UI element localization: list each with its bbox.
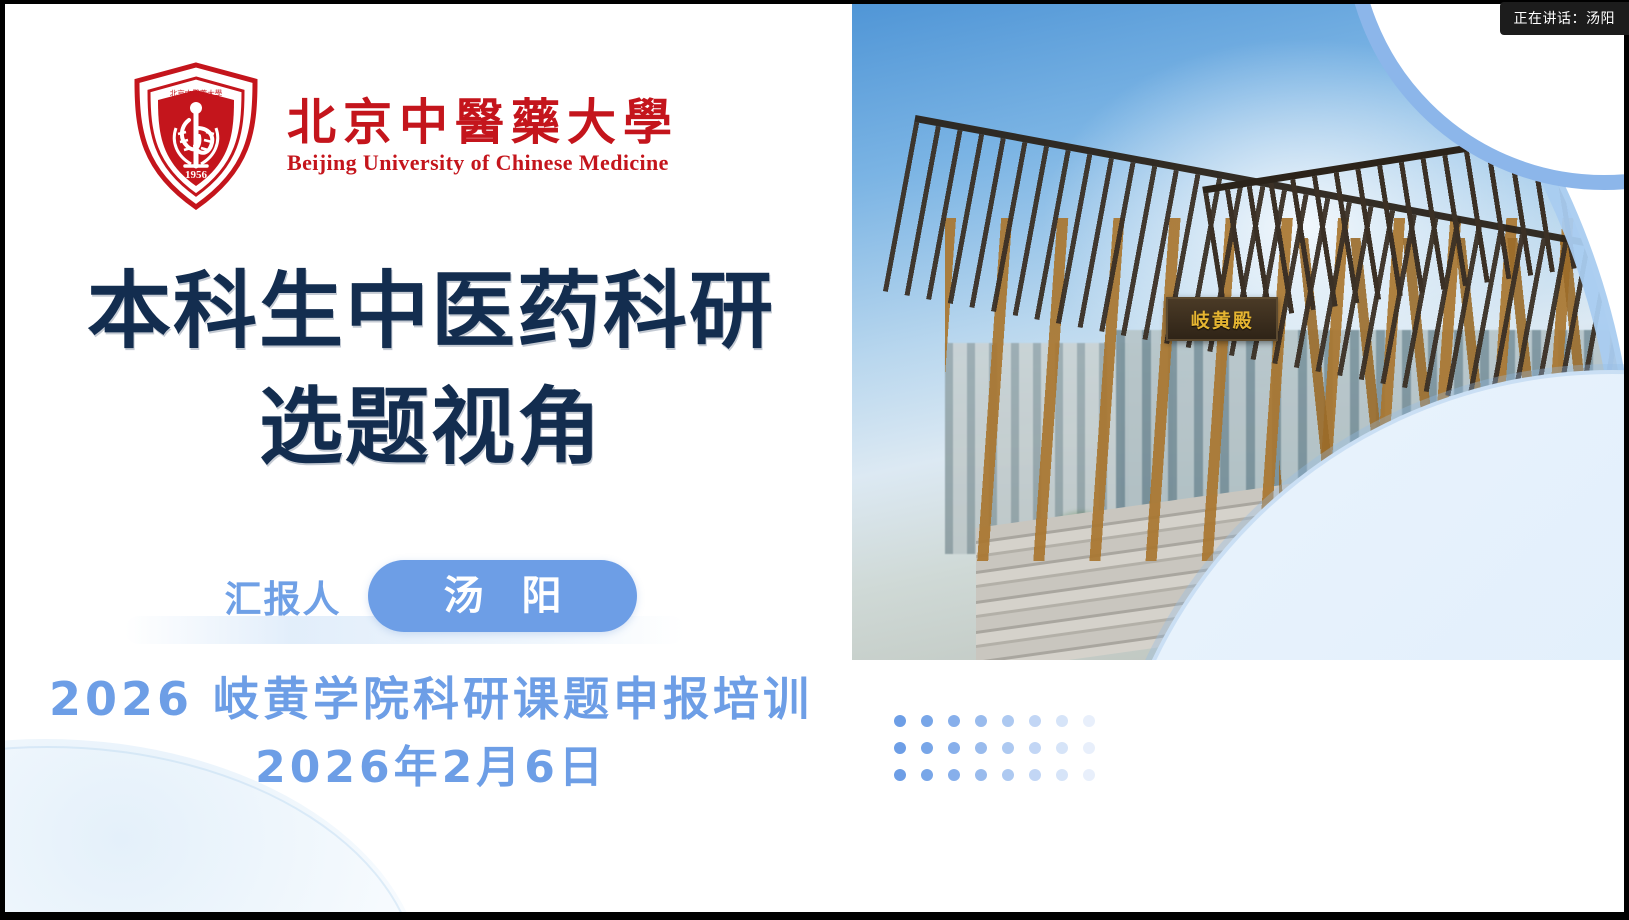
- dot: [1002, 742, 1014, 754]
- speaker-label: 汇报人: [225, 569, 342, 623]
- title-line-2: 选题视角: [5, 370, 857, 486]
- event-title: 2026 岐黄学院科研课题申报培训: [5, 666, 857, 733]
- svg-text:1956: 1956: [185, 169, 208, 181]
- dot: [1083, 742, 1095, 754]
- university-name-en: Beijing University of Chinese Medicine: [287, 150, 679, 176]
- screen-root: 岐黄殿: [0, 0, 1629, 920]
- title-line-1: 本科生中医药科研: [5, 254, 857, 370]
- speaker-row: 汇报人 汤 阳: [5, 560, 857, 632]
- dot: [975, 715, 987, 727]
- active-speaker-badge: 正在讲话：汤阳: [1500, 2, 1629, 35]
- dot: [921, 715, 933, 727]
- dot: [948, 769, 960, 781]
- university-wordmark: 北京中醫藥大學 Beijing University of Chinese Me…: [287, 96, 679, 177]
- dot: [1002, 715, 1014, 727]
- university-logo: 1956 北京中醫藥大學 北京中醫藥大學 Beijing University …: [131, 62, 679, 210]
- dot: [894, 769, 906, 781]
- dot-grid-decoration: [894, 715, 1110, 796]
- bucm-shield-crest-icon: 1956 北京中醫藥大學: [131, 62, 261, 210]
- dot: [921, 769, 933, 781]
- speaker-name-pill: 汤 阳: [368, 560, 638, 632]
- dot: [1083, 769, 1095, 781]
- dot: [1056, 742, 1068, 754]
- dot: [921, 742, 933, 754]
- dot: [948, 715, 960, 727]
- slide-footer: 2026 岐黄学院科研课题申报培训 2026年2月6日: [5, 666, 857, 803]
- event-date: 2026年2月6日: [5, 733, 857, 803]
- dot: [1056, 715, 1068, 727]
- dot: [1029, 742, 1041, 754]
- presentation-slide: 岐黄殿: [5, 4, 1624, 912]
- dot: [948, 742, 960, 754]
- slide-title: 本科生中医药科研 选题视角: [5, 254, 857, 486]
- dot: [1083, 715, 1095, 727]
- university-name-cn: 北京中醫藥大學: [287, 96, 679, 149]
- dot: [975, 742, 987, 754]
- dot: [894, 742, 906, 754]
- svg-text:北京中醫藥大學: 北京中醫藥大學: [170, 88, 223, 98]
- dot: [894, 715, 906, 727]
- dot: [1056, 769, 1068, 781]
- dot: [1029, 715, 1041, 727]
- dot: [1002, 769, 1014, 781]
- dot: [975, 769, 987, 781]
- campus-photo-panel: 岐黄殿: [852, 4, 1624, 660]
- dot: [1029, 769, 1041, 781]
